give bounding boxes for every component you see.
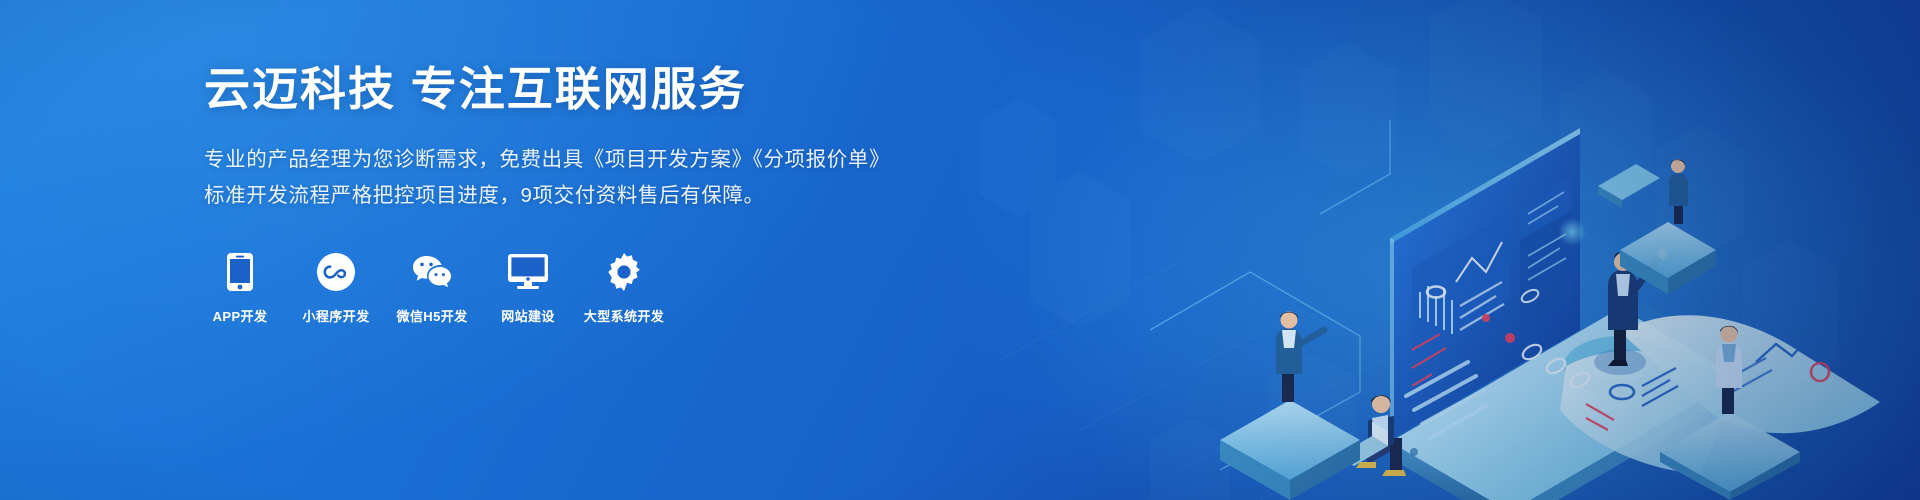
service-item-app[interactable]: APP开发 [204, 252, 276, 325]
service-item-website[interactable]: 网站建设 [492, 252, 564, 325]
wechat-icon [412, 252, 452, 292]
subtitle-line-2: 标准开发流程严格把控项目进度，9项交付资料售后有保障。 [204, 178, 964, 214]
mini-program-icon [316, 252, 356, 292]
service-list: APP开发 小程序开发 [204, 252, 964, 325]
monitor-icon [508, 252, 548, 292]
service-label: 网站建设 [501, 306, 555, 325]
mobile-phone-icon [220, 252, 260, 292]
banner-content: 云迈科技 专注互联网服务 专业的产品经理为您诊断需求，免费出具《项目开发方案》《… [204, 62, 964, 325]
service-item-wechat-h5[interactable]: 微信H5开发 [396, 252, 468, 325]
hero-banner: 云迈科技 专注互联网服务 专业的产品经理为您诊断需求，免费出具《项目开发方案》《… [0, 0, 1920, 500]
service-item-large-system[interactable]: 大型系统开发 [588, 252, 660, 325]
service-label: 微信H5开发 [396, 306, 467, 325]
subtitle-line-1: 专业的产品经理为您诊断需求，免费出具《项目开发方案》《分项报价单》 [204, 142, 964, 178]
service-label: APP开发 [213, 306, 268, 325]
service-item-miniprogram[interactable]: 小程序开发 [300, 252, 372, 325]
service-label: 大型系统开发 [584, 306, 664, 325]
gear-icon [604, 252, 644, 292]
banner-subtitle: 专业的产品经理为您诊断需求，免费出具《项目开发方案》《分项报价单》 标准开发流程… [204, 142, 964, 214]
service-label: 小程序开发 [302, 306, 369, 325]
page-title: 云迈科技 专注互联网服务 [204, 62, 964, 116]
